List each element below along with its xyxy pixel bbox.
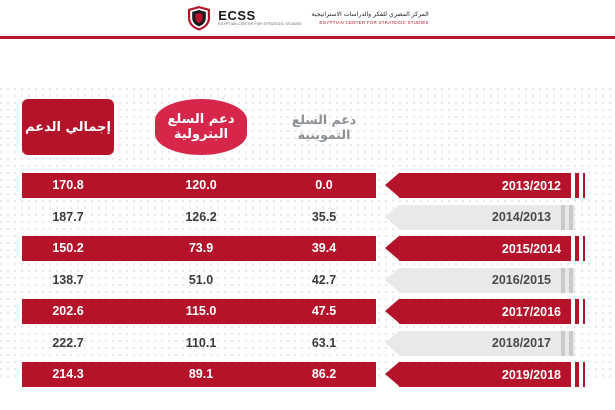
cell-petroleum-support: 89.1	[155, 362, 247, 387]
cell-petroleum-support: 51.0	[155, 268, 247, 293]
bar-body: 2017/2016	[399, 299, 585, 324]
logo-arabic-text: المركز المصري للفكر والدراسات الاستراتيج…	[312, 10, 429, 19]
bar-arrow-icon	[385, 331, 399, 355]
year-bar[interactable]: 2019/2018	[385, 362, 585, 387]
year-bar[interactable]: 2017/2016	[385, 299, 585, 324]
cell-petroleum-support: 115.0	[155, 299, 247, 324]
logo-main-text: ECSS	[218, 9, 301, 22]
bar-year-label: 2017/2016	[502, 305, 561, 319]
bar-tick	[579, 236, 583, 261]
year-bar[interactable]: 2014/2013	[385, 205, 575, 230]
bar-year-label: 2018/2017	[492, 336, 551, 350]
table-row[interactable]: 170.8120.00.02013/2012	[0, 173, 615, 198]
year-bar[interactable]: 2013/2012	[385, 173, 585, 198]
bar-tick	[561, 331, 565, 356]
cell-petroleum-support: 126.2	[155, 205, 247, 230]
bar-body: 2019/2018	[399, 362, 585, 387]
bar-tick	[561, 205, 565, 230]
bar-tick	[571, 362, 575, 387]
cell-total-support: 150.2	[22, 236, 114, 261]
bar-tick	[569, 331, 573, 356]
bar-arrow-icon	[385, 268, 399, 292]
column-header-total: إجمالي الدعم	[22, 99, 114, 155]
logo-english-text: EGYPTIAN CENTER FOR STRATEGIC STUDIES	[312, 19, 429, 26]
table-row[interactable]: 187.7126.235.52014/2013	[0, 205, 615, 230]
shield-icon	[186, 5, 212, 31]
cell-food-support: 39.4	[272, 236, 376, 261]
bar-year-label: 2015/2014	[502, 242, 561, 256]
bar-tick	[571, 173, 575, 198]
column-header-petroleum: دعم السلع البترولية	[155, 99, 247, 155]
logo-arabic-block: المركز المصري للفكر والدراسات الاستراتيج…	[312, 10, 429, 26]
bar-arrow-icon	[385, 299, 399, 323]
bar-body: 2015/2014	[399, 236, 585, 261]
table-row[interactable]: 150.273.939.42015/2014	[0, 236, 615, 261]
cell-total-support: 170.8	[22, 173, 114, 198]
logo-sub-text: EGYPTIAN CENTER FOR STRATEGIC STUDIES	[218, 22, 301, 27]
cell-total-support: 214.3	[22, 362, 114, 387]
bar-year-label: 2019/2018	[502, 368, 561, 382]
year-bar[interactable]: 2015/2014	[385, 236, 585, 261]
bar-body: 2016/2015	[399, 268, 575, 293]
cell-petroleum-support: 73.9	[155, 236, 247, 261]
bar-tick	[571, 299, 575, 324]
cell-total-support: 138.7	[22, 268, 114, 293]
cell-food-support: 35.5	[272, 205, 376, 230]
bar-body: 2014/2013	[399, 205, 575, 230]
bar-tick	[579, 173, 583, 198]
year-bar[interactable]: 2018/2017	[385, 331, 575, 356]
bar-tick	[571, 236, 575, 261]
logo: ECSS EGYPTIAN CENTER FOR STRATEGIC STUDI…	[186, 5, 428, 31]
top-white-band	[0, 39, 615, 87]
bar-tick	[569, 205, 573, 230]
cell-total-support: 187.7	[22, 205, 114, 230]
cell-food-support: 86.2	[272, 362, 376, 387]
cell-food-support: 0.0	[272, 173, 376, 198]
table-row[interactable]: 138.751.042.72016/2015	[0, 268, 615, 293]
bar-body: 2013/2012	[399, 173, 585, 198]
bar-tick	[561, 268, 565, 293]
bar-year-label: 2014/2013	[492, 210, 551, 224]
bar-arrow-icon	[385, 362, 399, 386]
cell-food-support: 47.5	[272, 299, 376, 324]
bar-body: 2018/2017	[399, 331, 575, 356]
year-bar[interactable]: 2016/2015	[385, 268, 575, 293]
table-row[interactable]: 214.389.186.22019/2018	[0, 362, 615, 387]
chart-canvas: إجمالي الدعم دعم السلع البترولية دعم الس…	[0, 39, 615, 410]
cell-total-support: 202.6	[22, 299, 114, 324]
cell-food-support: 42.7	[272, 268, 376, 293]
bar-arrow-icon	[385, 236, 399, 260]
bar-tick	[569, 268, 573, 293]
bar-year-label: 2013/2012	[502, 179, 561, 193]
bar-arrow-icon	[385, 173, 399, 197]
bar-arrow-icon	[385, 205, 399, 229]
page-header: ECSS EGYPTIAN CENTER FOR STRATEGIC STUDI…	[0, 0, 615, 36]
cell-food-support: 63.1	[272, 331, 376, 356]
bar-tick	[579, 362, 583, 387]
table-row[interactable]: 202.6115.047.52017/2016	[0, 299, 615, 324]
bar-year-label: 2016/2015	[492, 273, 551, 287]
cell-petroleum-support: 110.1	[155, 331, 247, 356]
cell-petroleum-support: 120.0	[155, 173, 247, 198]
logo-text: ECSS EGYPTIAN CENTER FOR STRATEGIC STUDI…	[218, 9, 301, 27]
cell-total-support: 222.7	[22, 331, 114, 356]
column-header-food: دعم السلع التموينية	[272, 99, 376, 155]
bar-tick	[579, 299, 583, 324]
table-row[interactable]: 222.7110.163.12018/2017	[0, 331, 615, 356]
